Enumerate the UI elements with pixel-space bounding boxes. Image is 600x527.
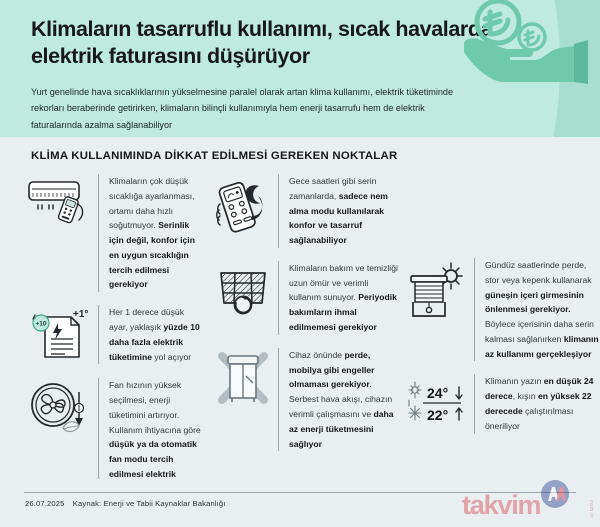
remote-control-moon-icon (212, 176, 274, 238)
tip-block: Cihaz önünde perde, mobilya gibi engelle… (208, 348, 398, 451)
watermark-domain: com.tr (588, 500, 594, 518)
tip-block: Klimaların çok düşük sıcaklığa ayarlanma… (22, 174, 202, 292)
tip-block: Klimaların bakım ve temizliği uzun ömür … (208, 261, 398, 335)
tip-text: Klimaların bakım ve temizliği uzun ömür … (278, 261, 398, 335)
fan-speed-leaf-icon (27, 380, 93, 438)
tip-text: Klimanın yazın en düşük 24 derece, kışın… (474, 374, 600, 433)
content-columns: Klimaların çok düşük sıcaklığa ayarlanma… (0, 174, 600, 474)
furniture-obstacle-icon (213, 350, 273, 408)
icon-cell (22, 174, 98, 226)
icon-cell (22, 378, 98, 438)
aa-agency-logo-icon (540, 479, 570, 509)
column-2: Gece saatleri gibi serin zamanlarda, sad… (202, 174, 398, 474)
tip-text: Gece saatleri gibi serin zamanlarda, sad… (278, 174, 398, 248)
electric-bill-increase-icon: +10 +1° (27, 307, 93, 365)
svg-text:+10: +10 (35, 321, 46, 328)
window-blind-sun-icon (407, 260, 471, 322)
page-subtitle: Yurt genelinde hava sıcaklıklarının yüks… (31, 84, 476, 134)
tip-block: 24° 22° Klimanın yazın en düşük 24 derec… (404, 374, 600, 433)
footer-credit: 26.07.2025 Kaynak: Enerji ve Tabii Kayna… (25, 499, 226, 508)
watermark-logo: takvim com.tr (456, 479, 596, 525)
tip-block: Gündüz saatlerinde perde, stor veya kepe… (404, 258, 600, 361)
tip-block: Gece saatleri gibi serin zamanlarda, sad… (208, 174, 398, 248)
column-1: Klimaların çok düşük sıcaklığa ayarlanma… (0, 174, 202, 474)
hand-holding-lira-coins-icon (462, 0, 590, 88)
icon-cell (404, 258, 474, 322)
temp-summer-label: 24° (427, 385, 448, 401)
icon-cell: +10 +1° (22, 305, 98, 365)
temperature-summer-winter-icon: 24° 22° (407, 376, 471, 430)
icon-cell: 24° 22° (404, 374, 474, 430)
tip-text: Klimaların çok düşük sıcaklığa ayarlanma… (98, 174, 202, 292)
infographic-root: Klimaların tasarruflu kullanımı, sıcak h… (0, 0, 600, 527)
svg-text:+1°: +1° (73, 309, 88, 320)
column-3: Gündüz saatlerinde perde, stor veya kepe… (398, 174, 600, 474)
ac-filter-maintenance-icon (213, 263, 273, 317)
temp-winter-label: 22° (427, 407, 448, 423)
page-title: Klimaların tasarruflu kullanımı, sıcak h… (31, 16, 501, 71)
tip-text: Cihaz önünde perde, mobilya gibi engelle… (278, 348, 398, 451)
section-heading: KLİMA KULLANIMINDA DİKKAT EDİLMESİ GEREK… (31, 150, 397, 162)
icon-cell (208, 348, 278, 408)
tip-block: +10 +1° Her 1 derece düşük ayar, yaklaşı… (22, 305, 202, 365)
tip-text: Her 1 derece düşük ayar, yaklaşık yüzde … (98, 305, 202, 364)
watermark-text: takvim (462, 490, 540, 521)
air-conditioner-remote-icon (27, 176, 93, 226)
icon-cell (208, 174, 278, 238)
footer-date: 26.07.2025 (25, 499, 65, 508)
footer-source: Kaynak: Enerji ve Tabii Kaynaklar Bakanl… (73, 499, 226, 508)
tip-text: Gündüz saatlerinde perde, stor veya kepe… (474, 258, 600, 361)
footer: 26.07.2025 Kaynak: Enerji ve Tabii Kayna… (0, 479, 600, 527)
icon-cell (208, 261, 278, 317)
